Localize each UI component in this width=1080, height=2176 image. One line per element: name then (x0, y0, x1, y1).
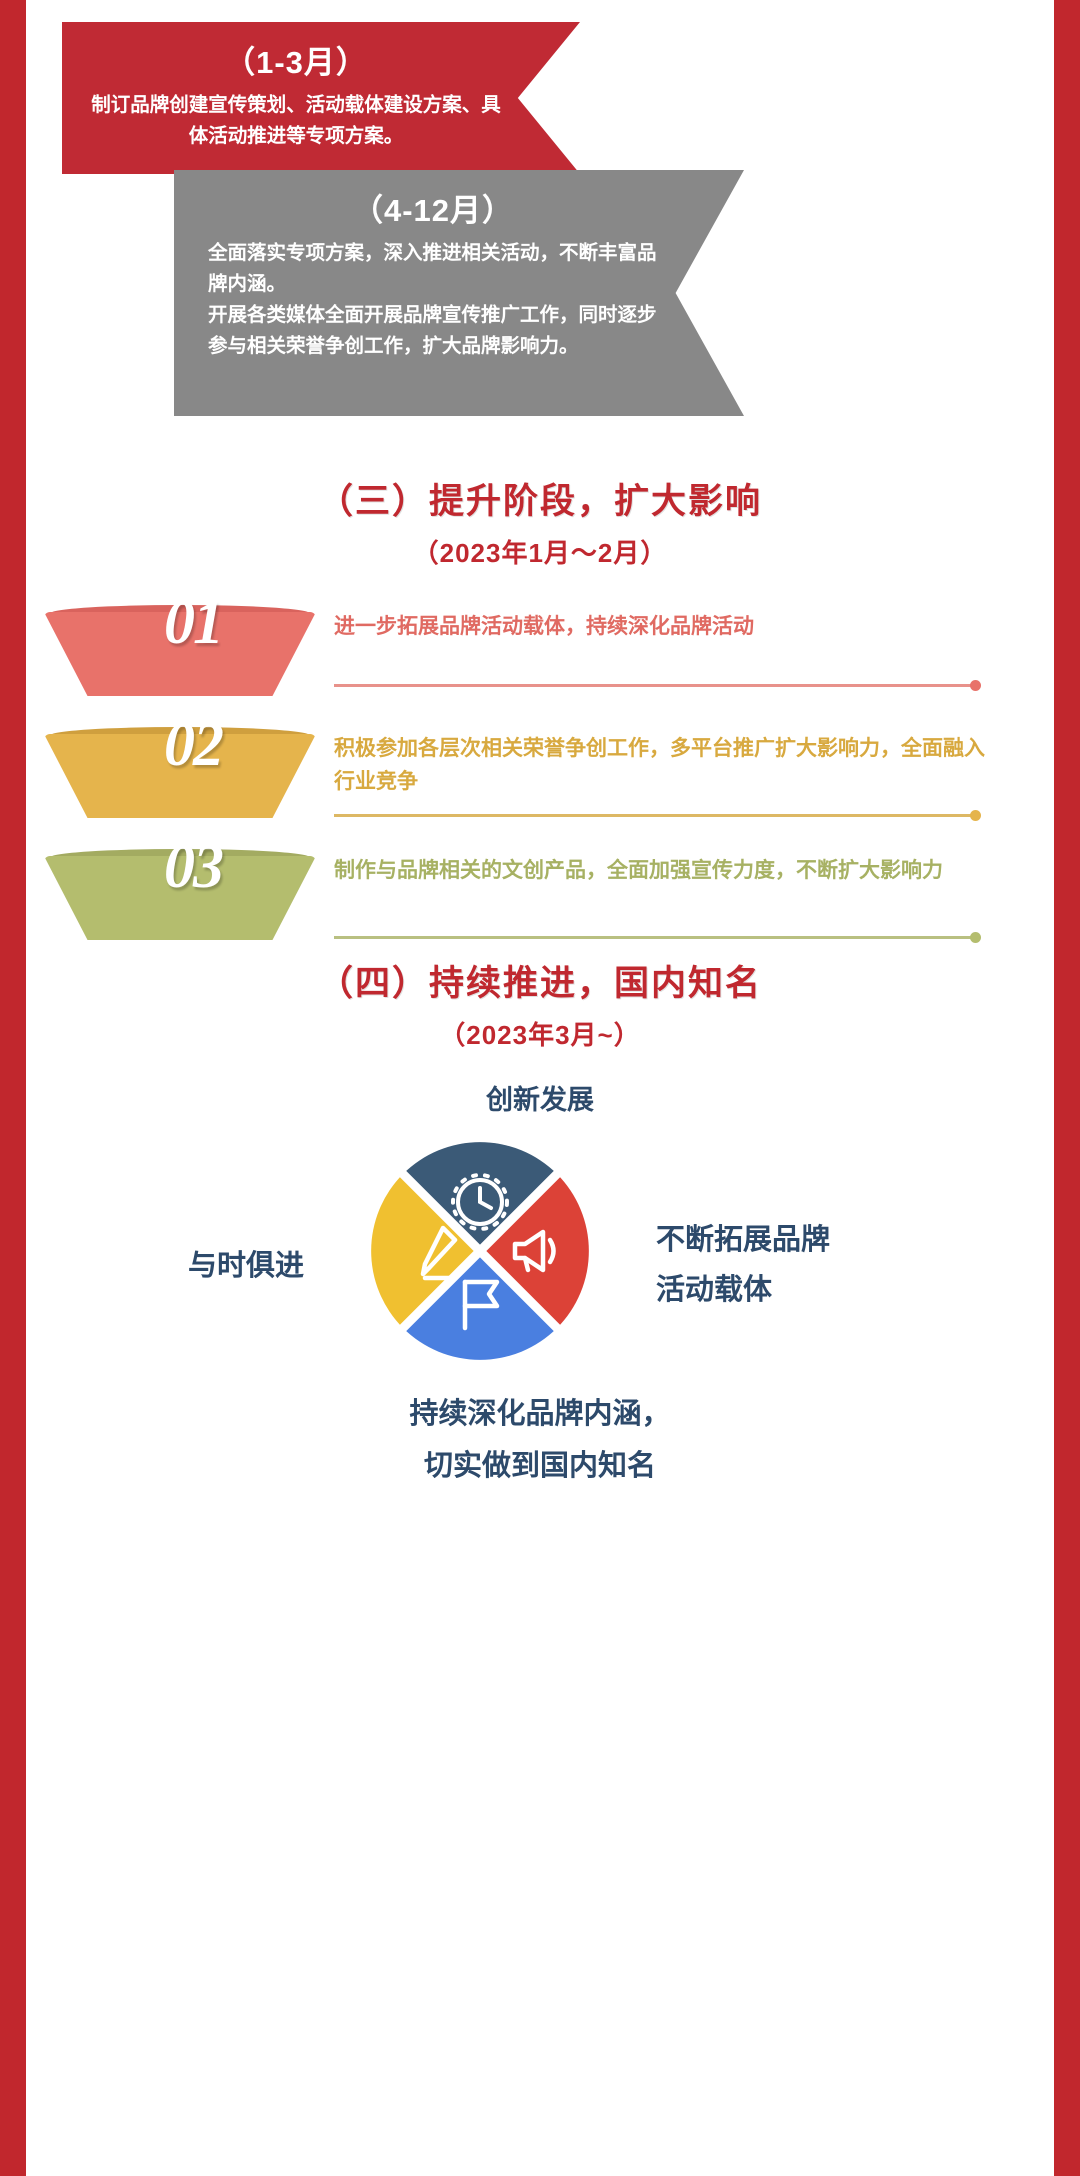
phase-banner-1-3: （1-3月） 制订品牌创建宣传策划、活动载体建设方案、具体活动推进等专项方案。 (62, 22, 580, 174)
wheel-chart (365, 1136, 595, 1366)
funnel-shape-02: 02 (44, 734, 316, 818)
funnel-row-01: 01 进一步拓展品牌活动载体，持续深化品牌活动 (34, 604, 1046, 722)
funnel-number-02: 02 (164, 710, 222, 781)
funnel-dot-02 (970, 810, 981, 821)
page-left-rail (0, 0, 26, 2176)
funnel-number-03: 03 (164, 832, 222, 903)
phase-banner-4-12-body-line-2: 开展各类媒体全面开展品牌宣传推广工作，同时逐步参与相关荣誉争创工作，扩大品牌影响… (208, 300, 668, 362)
funnel-row-02: 02 积极参加各层次相关荣誉争创工作，多平台推广扩大影响力，全面融入行业竞争 (34, 726, 1046, 844)
phase-banner-1-3-title: （1-3月） (82, 40, 510, 86)
strategy-wheel: 创新发展 不断拓展品牌 活动载体 与时俱进 持续深化品牌内涵， 切实做到国内知名 (34, 1078, 1046, 1498)
section-three-subtitle: （2023年1月～2月） (34, 532, 1046, 574)
funnel-rule-01 (334, 684, 976, 687)
funnel-row-03: 03 制作与品牌相关的文创产品，全面加强宣传力度，不断扩大影响力 (34, 848, 1046, 966)
section-four-subtitle: （2023年3月~） (34, 1014, 1046, 1056)
section-three-heading: （三）提升阶段，扩大影响 （2023年1月～2月） (34, 478, 1046, 574)
infographic-canvas: （1-3月） 制订品牌创建宣传策划、活动载体建设方案、具体活动推进等专项方案。 … (34, 0, 1046, 2176)
funnel-rule-02 (334, 814, 976, 817)
wheel-label-bottom-line-2: 切实做到国内知名 (34, 1444, 1046, 1488)
section-four-title: （四）持续推进，国内知名 (34, 960, 1046, 1008)
page-right-rail (1054, 0, 1080, 2176)
wheel-label-right-line-1: 不断拓展品牌 (656, 1218, 986, 1262)
funnel-text-01: 进一步拓展品牌活动载体，持续深化品牌活动 (334, 610, 994, 643)
phase-banner-4-12-title: （4-12月） (208, 188, 668, 234)
funnel-rule-03 (334, 936, 976, 939)
funnel-shape-01: 01 (44, 612, 316, 696)
wheel-label-bottom-line-1: 持续深化品牌内涵， (34, 1392, 1046, 1436)
funnel-number-01: 01 (164, 588, 222, 659)
wheel-label-right-line-2: 活动载体 (656, 1268, 986, 1312)
funnel-shape-03: 03 (44, 856, 316, 940)
section-three-title: （三）提升阶段，扩大影响 (34, 478, 1046, 526)
phase-banner-1-3-body: 制订品牌创建宣传策划、活动载体建设方案、具体活动推进等专项方案。 (82, 90, 510, 152)
phase-banner-4-12: （4-12月） 全面落实专项方案，深入推进相关活动，不断丰富品牌内涵。 开展各类… (174, 170, 744, 416)
funnel-text-02: 积极参加各层次相关荣誉争创工作，多平台推广扩大影响力，全面融入行业竞争 (334, 732, 994, 798)
funnel-dot-01 (970, 680, 981, 691)
wheel-label-left: 与时俱进 (44, 1244, 304, 1288)
phase-banner-4-12-body-line-1: 全面落实专项方案，深入推进相关活动，不断丰富品牌内涵。 (208, 238, 668, 300)
funnel-dot-03 (970, 932, 981, 943)
wheel-label-top: 创新发展 (34, 1080, 1046, 1120)
funnel-text-03: 制作与品牌相关的文创产品，全面加强宣传力度，不断扩大影响力 (334, 854, 994, 887)
section-four-heading: （四）持续推进，国内知名 （2023年3月~） (34, 960, 1046, 1056)
